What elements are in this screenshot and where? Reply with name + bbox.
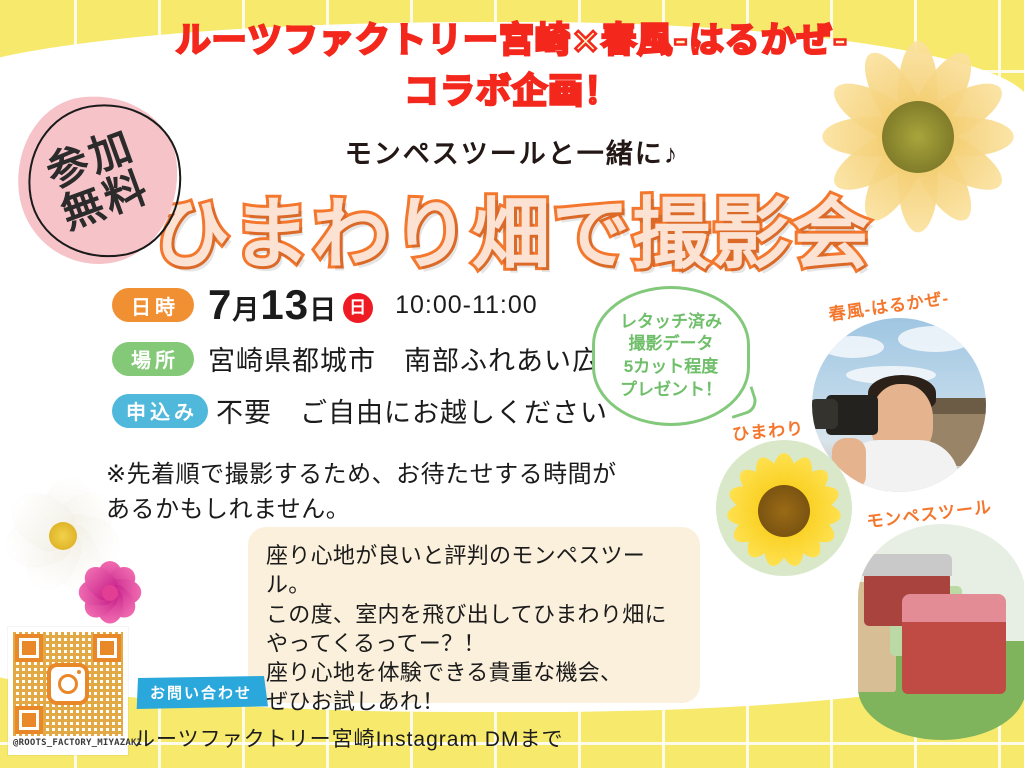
description-box: 座り心地が良いと評判のモンペスツール。 この度、室内を飛び出してひまわり畑に や… [248, 527, 700, 703]
camera-icon [826, 395, 878, 435]
flyer-poster: ルーツファクトリー宮崎×春風-はるかぜ- コラボ企画！ モンペスツールと一緒に♪… [0, 0, 1024, 768]
label-date: 日時 [112, 288, 194, 322]
cloud-2 [898, 326, 972, 352]
event-note-line2: あるかもしれません。 [106, 493, 617, 528]
instagram-icon [47, 663, 89, 705]
event-note-line1: ※先着順で撮影するため、お待たせする時間が [106, 458, 617, 493]
description-line-5: ぜひお試しあれ！ [266, 687, 682, 716]
date-month: 7 [208, 281, 232, 328]
info-row-date: 日時 7月13日日 10:00-11:00 [112, 284, 628, 326]
label-apply: 申込み [112, 394, 208, 428]
qr-code-card[interactable]: @ROOTS_FACTORY_MIYAZAKI [8, 627, 128, 755]
description-line-2: この度、室内を飛び出してひまわり畑に [266, 600, 682, 629]
description-line-3: やってくるってー？！ [266, 629, 682, 658]
photo-stool [858, 524, 1024, 740]
info-row-apply: 申込み 不要 ご自由にお越しください [112, 391, 628, 430]
label-place: 場所 [112, 342, 194, 376]
event-info: 日時 7月13日日 10:00-11:00 場所 宮崎県都城市 南部ふれあい広場… [112, 284, 628, 443]
event-note: ※先着順で撮影するため、お待たせする時間が あるかもしれません。 [106, 458, 617, 528]
qr-code-image[interactable] [13, 632, 123, 736]
pink-flower-illustration [72, 556, 148, 630]
page-title-text: ひまわり畑で撮影会 [152, 190, 872, 280]
free-participation-badge: 参加 無料 [18, 96, 178, 264]
instagram-handle: @ROOTS_FACTORY_MIYAZAKI [13, 738, 123, 748]
info-row-place: 場所 宮崎県都城市 南部ふれあい広場 [112, 339, 628, 378]
qr-eye-top-right [93, 634, 121, 662]
description-line-1: 座り心地が良いと評判のモンペスツール。 [266, 541, 682, 600]
description-line-4: 座り心地を体験できる貴重な機会、 [266, 658, 682, 687]
date-value: 7月13日日 [208, 284, 373, 326]
sunflower-center [758, 485, 810, 537]
contact-text: ルーツファクトリー宮崎Instagram DMまで [134, 723, 563, 753]
contact-tape-label: お問い合わせ [134, 676, 268, 709]
event-time: 10:00-11:00 [395, 291, 538, 320]
stool-red [902, 616, 1006, 694]
bubble-line-2: 撮影データ [629, 333, 714, 356]
apply-value: 不要 ご自由にお越しください [216, 391, 608, 430]
bubble-line-1: レタッチ済み [620, 311, 722, 334]
qr-eye-top-left [15, 634, 43, 662]
bubble-line-4: プレゼント！ [620, 379, 722, 402]
date-day-unit: 日 [309, 295, 337, 325]
date-month-unit: 月 [232, 295, 260, 325]
bubble-line-3: 5カット程度 [624, 356, 718, 379]
cloud-1 [822, 336, 884, 358]
date-day: 13 [260, 281, 309, 328]
photo-data-bubble: レタッチ済み 撮影データ 5カット程度 プレゼント！ [592, 286, 750, 426]
free-badge-text: 参加 無料 [0, 77, 201, 282]
weekday-badge: 日 [343, 293, 373, 323]
place-value: 宮崎県都城市 南部ふれあい広場 [208, 339, 628, 378]
photo-sunflower [716, 440, 852, 576]
qr-eye-bottom-left [15, 706, 43, 734]
